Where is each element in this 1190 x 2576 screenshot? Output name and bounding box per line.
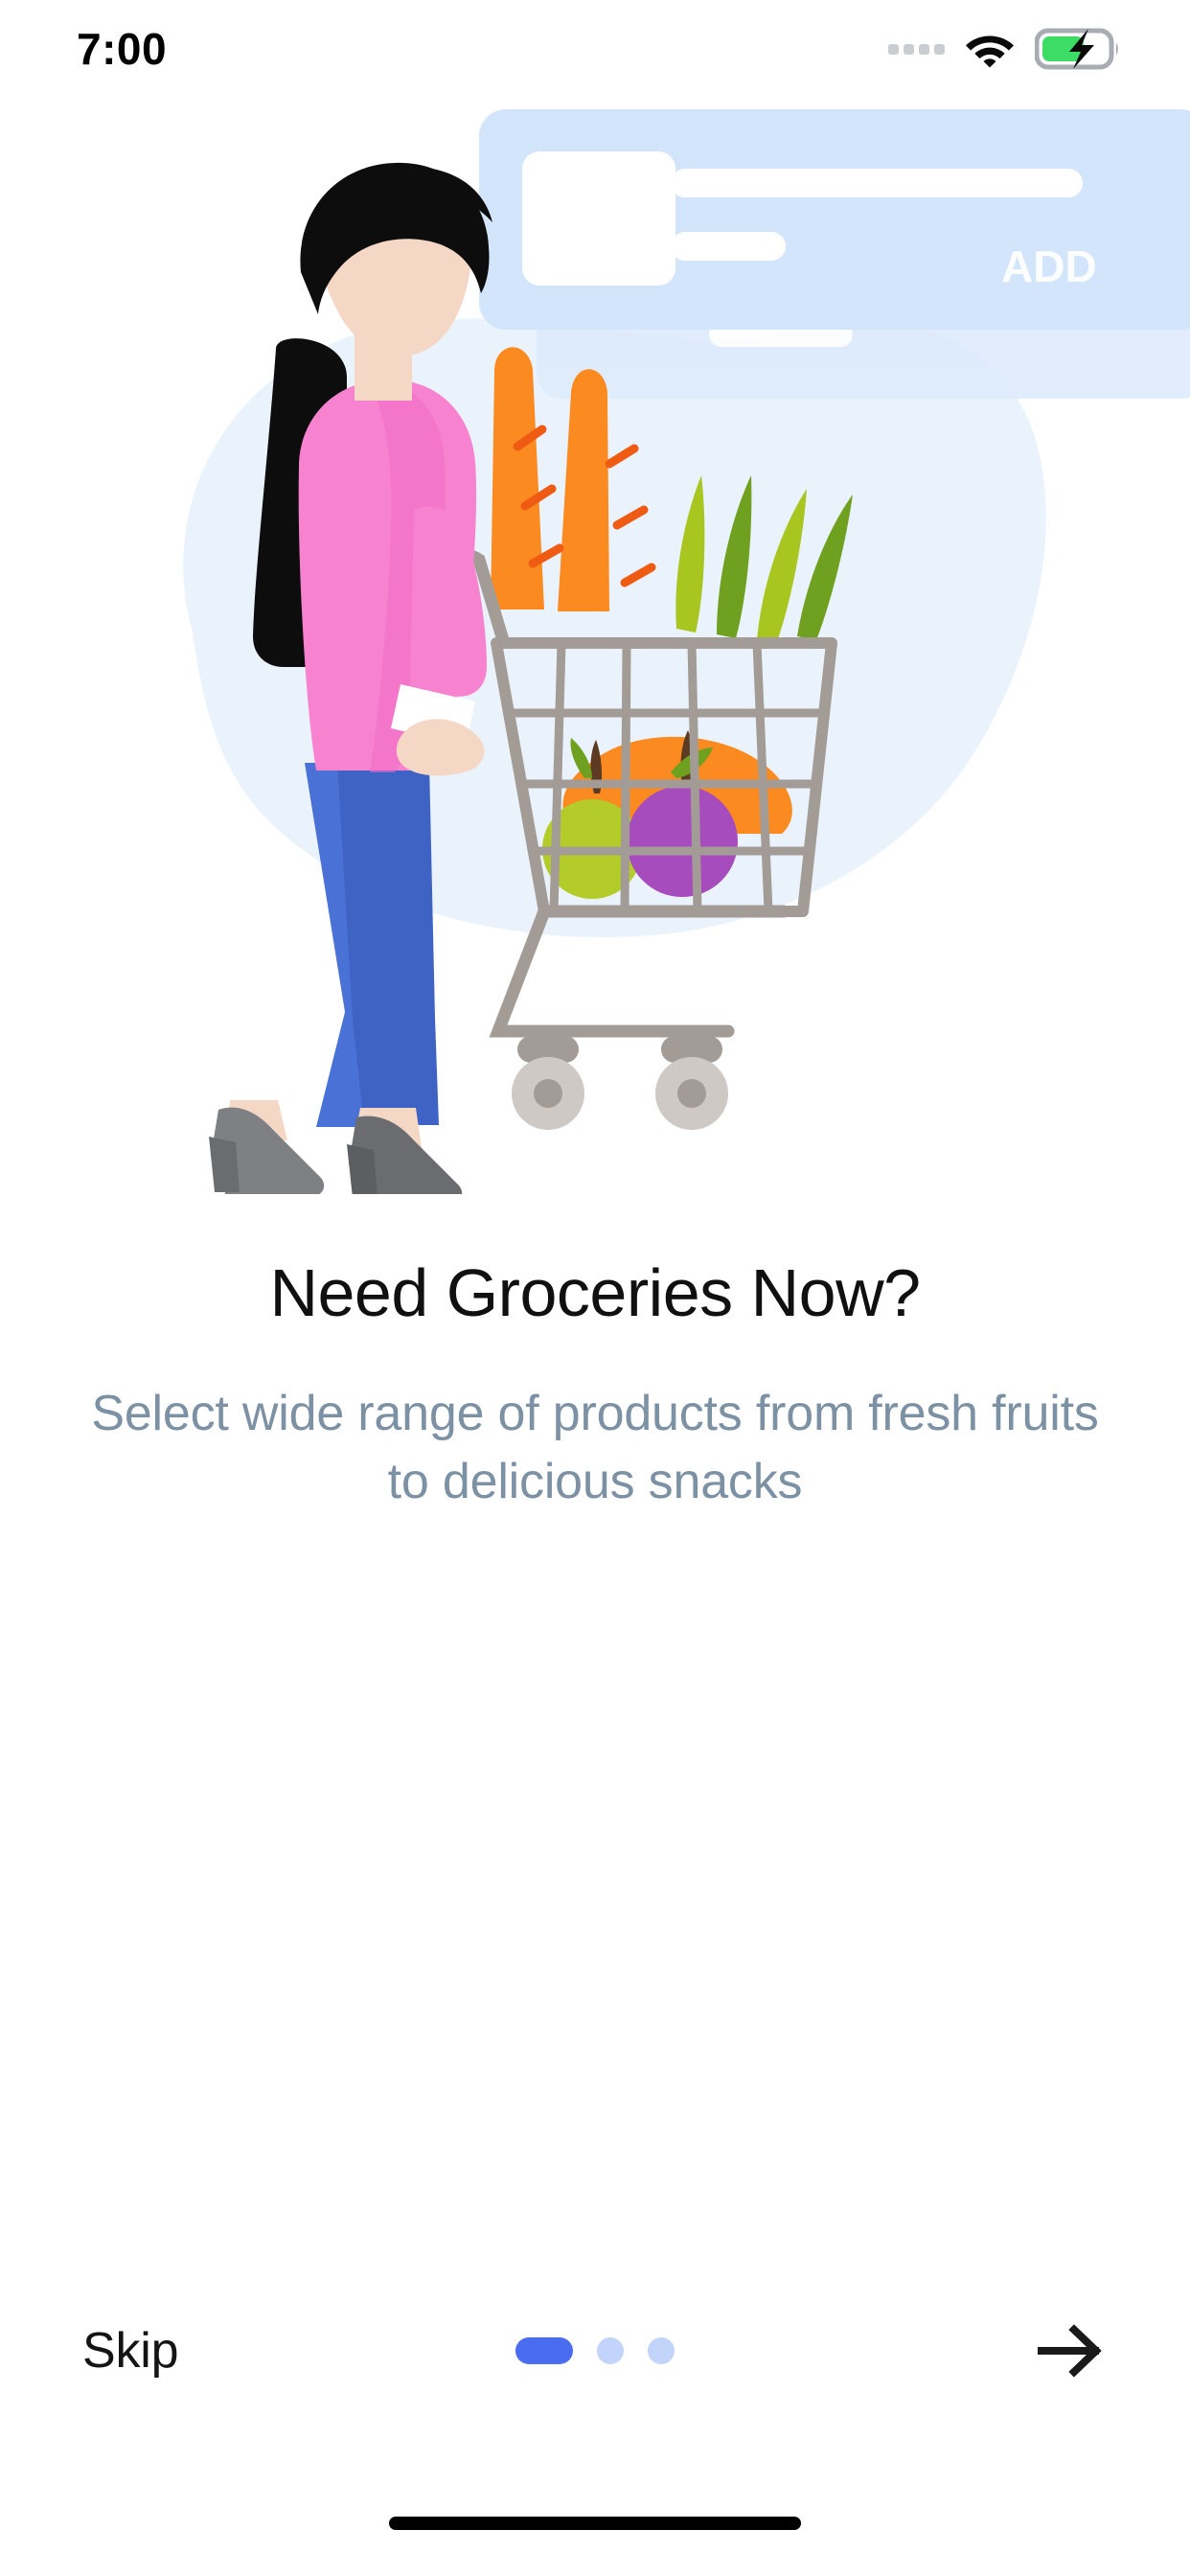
card-add-label-front: ADD (1001, 241, 1097, 291)
status-bar: 7:00 (0, 0, 1190, 92)
signal-dots-icon (888, 44, 945, 55)
onboarding-text: Need Groceries Now? Select wide range of… (0, 1255, 1190, 1516)
pagination-dots[interactable] (515, 2337, 675, 2364)
pagination-dot-3[interactable] (648, 2337, 675, 2364)
page-subtitle: Select wide range of products from fresh… (82, 1380, 1108, 1515)
pagination-dot-1[interactable] (515, 2337, 573, 2364)
onboarding-footer: Skip (0, 2298, 1190, 2403)
pagination-dot-2[interactable] (597, 2337, 624, 2364)
skip-button[interactable]: Skip (77, 2312, 184, 2389)
product-card-front: ADD (479, 109, 1190, 330)
arrow-right-icon (1036, 2324, 1105, 2378)
next-button[interactable] (1027, 2308, 1113, 2394)
home-indicator[interactable] (389, 2517, 801, 2530)
purple-fruit (627, 786, 738, 897)
status-indicators (888, 22, 1119, 70)
cart-wheels (512, 1036, 728, 1130)
page-title: Need Groceries Now? (57, 1255, 1133, 1330)
status-time: 7:00 (77, 21, 167, 71)
onboarding-screen: 7:00 (0, 0, 1190, 2576)
battery-charging-icon (1035, 28, 1119, 70)
wifi-icon (964, 30, 1016, 68)
hero-illustration: ADD ADD (0, 92, 1190, 1194)
